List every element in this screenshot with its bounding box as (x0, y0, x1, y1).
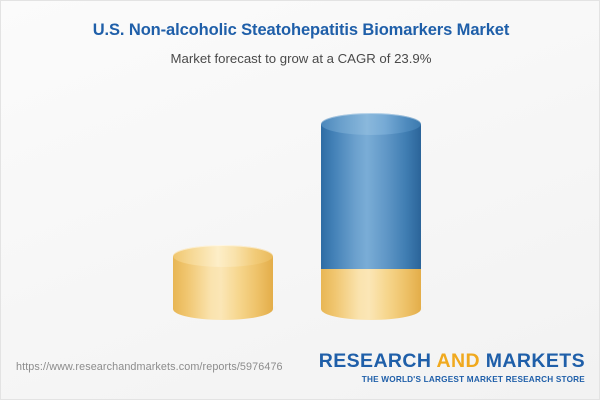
bar-segment-blue (321, 124, 421, 269)
logo-word-research: RESEARCH (319, 350, 432, 372)
bar-segment-gold-base (321, 269, 421, 309)
infographic-card: U.S. Non-alcoholic Steatohepatitis Bioma… (0, 0, 600, 400)
cylinder-body (321, 269, 421, 309)
chart-footer: https://www.researchandmarkets.com/repor… (1, 344, 600, 399)
brand-logo[interactable]: RESEARCH AND MARKETS THE WORLD'S LARGEST… (319, 352, 585, 384)
source-url-link[interactable]: https://www.researchandmarkets.com/repor… (16, 361, 283, 373)
chart-plot-area: USD 629.47 Million 2023 USD 2,840 Millio… (1, 1, 600, 346)
logo-tagline: THE WORLD'S LARGEST MARKET RESEARCH STOR… (319, 372, 585, 384)
cylinder-bar-2030[interactable] (321, 124, 421, 309)
bar-segment-gold (173, 256, 273, 309)
cylinder-bar-2023[interactable] (173, 256, 273, 309)
cylinder-body (321, 124, 421, 269)
cylinder-top-cap (173, 245, 273, 267)
logo-word-markets: MARKETS (486, 350, 585, 372)
logo-wordmark: RESEARCH AND MARKETS (319, 352, 585, 372)
cylinder-top-cap (321, 113, 421, 135)
logo-word-and: AND (437, 350, 480, 372)
